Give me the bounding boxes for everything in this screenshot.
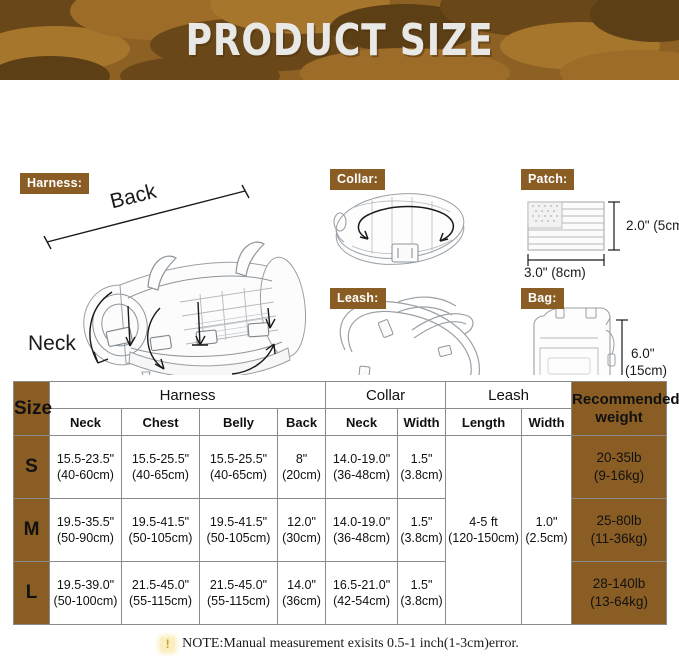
- header-group-collar: Collar: [326, 382, 446, 409]
- value-kg: (9-16kg): [594, 468, 644, 483]
- cell-recommended-weight: 25-80lb (11-36kg): [572, 499, 667, 562]
- cell-harness-neck: 19.5-35.5" (50-90cm): [50, 499, 122, 562]
- value-in: 19.5-41.5": [132, 515, 189, 529]
- size-table-wrapper: Size Harness Collar Leash Recommended we…: [13, 381, 666, 625]
- harness-neck-label: Neck: [28, 332, 76, 356]
- value-in: 19.5-39.0": [57, 578, 114, 592]
- value-in: 15.5-23.5": [57, 452, 114, 466]
- value-cm: (42-54cm): [333, 594, 390, 608]
- value-cm: (55-115cm): [207, 594, 270, 608]
- value-cm: (3.8cm): [400, 594, 442, 608]
- value-kg: (13-64kg): [590, 594, 648, 609]
- harness-belly-label: Belly: [242, 326, 288, 350]
- cell-recommended-weight: 28-140lb (13-64kg): [572, 562, 667, 625]
- value-cm: (36-48cm): [333, 468, 390, 482]
- cell-leash-width: 1.0" (2.5cm): [522, 436, 572, 625]
- value-cm: (36-48cm): [333, 531, 390, 545]
- cell-harness-chest: 21.5-45.0" (55-115cm): [122, 562, 200, 625]
- header-group-harness: Harness: [50, 382, 326, 409]
- size-table: Size Harness Collar Leash Recommended we…: [13, 381, 667, 625]
- cell-recommended-weight: 20-35lb (9-16kg): [572, 436, 667, 499]
- note-text: NOTE:Manual measurement exisits 0.5-1 in…: [182, 636, 519, 652]
- value-cm: (50-90cm): [57, 531, 114, 545]
- cell-collar-neck: 14.0-19.0" (36-48cm): [326, 499, 398, 562]
- value-cm: (50-105cm): [207, 531, 271, 545]
- patch-height-label: 2.0" (5cm): [626, 218, 679, 233]
- header-size: Size: [14, 382, 50, 436]
- value-cm: (2.5cm): [525, 531, 567, 545]
- subheader-leash-width: Width: [522, 409, 572, 436]
- cell-harness-back: 14.0" (36cm): [278, 562, 326, 625]
- harness-chest-label: Chest: [155, 338, 210, 362]
- value-cm: (50-100cm): [54, 594, 118, 608]
- value-in: 21.5-45.0": [210, 578, 267, 592]
- recommended-weight-line2: weight: [595, 409, 643, 426]
- cell-collar-width: 1.5" (3.8cm): [398, 436, 446, 499]
- cell-harness-back: 8" (20cm): [278, 436, 326, 499]
- value-in: 1.5": [411, 515, 433, 529]
- harness-section-badge: Harness:: [20, 173, 89, 194]
- cell-harness-neck: 19.5-39.0" (50-100cm): [50, 562, 122, 625]
- cell-harness-neck: 15.5-23.5" (40-60cm): [50, 436, 122, 499]
- value-cm: (20cm): [282, 468, 321, 482]
- value-in: 19.5-35.5": [57, 515, 114, 529]
- value-cm: (30cm): [282, 531, 321, 545]
- harness-back-label: Back: [108, 180, 159, 215]
- value-in: 16.5-21.0": [333, 578, 390, 592]
- value-ft: 4-5 ft: [469, 515, 498, 529]
- bag-height-value: 6.0": [631, 346, 655, 361]
- subheader-harness-chest: Chest: [122, 409, 200, 436]
- row-size-s: S: [14, 436, 50, 499]
- leash-section-badge: Leash:: [330, 288, 386, 309]
- value-in: 12.0": [287, 515, 316, 529]
- cell-collar-width: 1.5" (3.8cm): [398, 562, 446, 625]
- table-subheader-row: Neck Chest Belly Back Neck Width Length …: [14, 409, 667, 436]
- patch-section-badge: Patch:: [521, 169, 574, 190]
- value-in: 1.5": [411, 578, 433, 592]
- value-in: 14.0": [287, 578, 316, 592]
- value-lb: 28-140lb: [593, 576, 646, 591]
- page-title: PRODUCT SIZE: [61, 0, 618, 80]
- cell-harness-chest: 15.5-25.5" (40-65cm): [122, 436, 200, 499]
- row-size-m: M: [14, 499, 50, 562]
- value-cm: (36cm): [282, 594, 321, 608]
- value-in: 14.0-19.0": [333, 452, 390, 466]
- table-row: S 15.5-23.5" (40-60cm) 15.5-25.5" (40-65…: [14, 436, 667, 499]
- collar-neck-label: Neck: [405, 228, 453, 252]
- header-group-leash: Leash: [446, 382, 572, 409]
- value-in: 1.0": [536, 515, 558, 529]
- value-cm: (40-65cm): [210, 468, 267, 482]
- value-in: 19.5-41.5": [210, 515, 267, 529]
- subheader-collar-width: Width: [398, 409, 446, 436]
- cell-harness-belly: 21.5-45.0" (55-115cm): [200, 562, 278, 625]
- subheader-collar-neck: Neck: [326, 409, 398, 436]
- cell-harness-belly: 15.5-25.5" (40-65cm): [200, 436, 278, 499]
- value-in: 15.5-25.5": [210, 452, 267, 466]
- warning-icon: !: [160, 637, 175, 652]
- cell-collar-neck: 14.0-19.0" (36-48cm): [326, 436, 398, 499]
- recommended-weight-line1: Recommended: [572, 391, 679, 408]
- value-lb: 25-80lb: [597, 513, 642, 528]
- value-cm: (50-105cm): [129, 531, 193, 545]
- value-cm: (40-60cm): [57, 468, 114, 482]
- value-in: 8": [296, 452, 307, 466]
- cell-harness-belly: 19.5-41.5" (50-105cm): [200, 499, 278, 562]
- value-cm: (3.8cm): [400, 531, 442, 545]
- cell-collar-width: 1.5" (3.8cm): [398, 499, 446, 562]
- subheader-harness-neck: Neck: [50, 409, 122, 436]
- table-group-header-row: Size Harness Collar Leash Recommended we…: [14, 382, 667, 409]
- bag-section-badge: Bag:: [521, 288, 564, 309]
- diagram-area: Harness: Collar: Patch: Leash: Bag: Back…: [0, 80, 679, 375]
- row-size-l: L: [14, 562, 50, 625]
- cell-leash-length: 4-5 ft (120-150cm): [446, 436, 522, 625]
- value-cm: (40-65cm): [132, 468, 189, 482]
- value-kg: (11-36kg): [591, 531, 648, 546]
- cell-harness-chest: 19.5-41.5" (50-105cm): [122, 499, 200, 562]
- header-banner: PRODUCT SIZE: [0, 0, 679, 80]
- value-in: 14.0-19.0": [333, 515, 390, 529]
- value-cm: (55-115cm): [129, 594, 192, 608]
- note-bar: ! NOTE:Manual measurement exisits 0.5-1 …: [0, 636, 679, 652]
- value-cm: (120-150cm): [448, 531, 519, 545]
- diagram-artwork: [0, 80, 679, 375]
- value-in: 15.5-25.5": [132, 452, 189, 466]
- value-cm: (3.8cm): [400, 468, 442, 482]
- patch-width-label: 3.0" (8cm): [524, 265, 586, 280]
- value-lb: 20-35lb: [597, 450, 642, 465]
- subheader-harness-belly: Belly: [200, 409, 278, 436]
- header-recommended-weight: Recommended weight: [572, 382, 667, 436]
- value-in: 1.5": [411, 452, 433, 466]
- cell-harness-back: 12.0" (30cm): [278, 499, 326, 562]
- bag-height-metric: (15cm): [625, 363, 667, 378]
- subheader-leash-length: Length: [446, 409, 522, 436]
- cell-collar-neck: 16.5-21.0" (42-54cm): [326, 562, 398, 625]
- value-in: 21.5-45.0": [132, 578, 189, 592]
- subheader-harness-back: Back: [278, 409, 326, 436]
- collar-section-badge: Collar:: [330, 169, 385, 190]
